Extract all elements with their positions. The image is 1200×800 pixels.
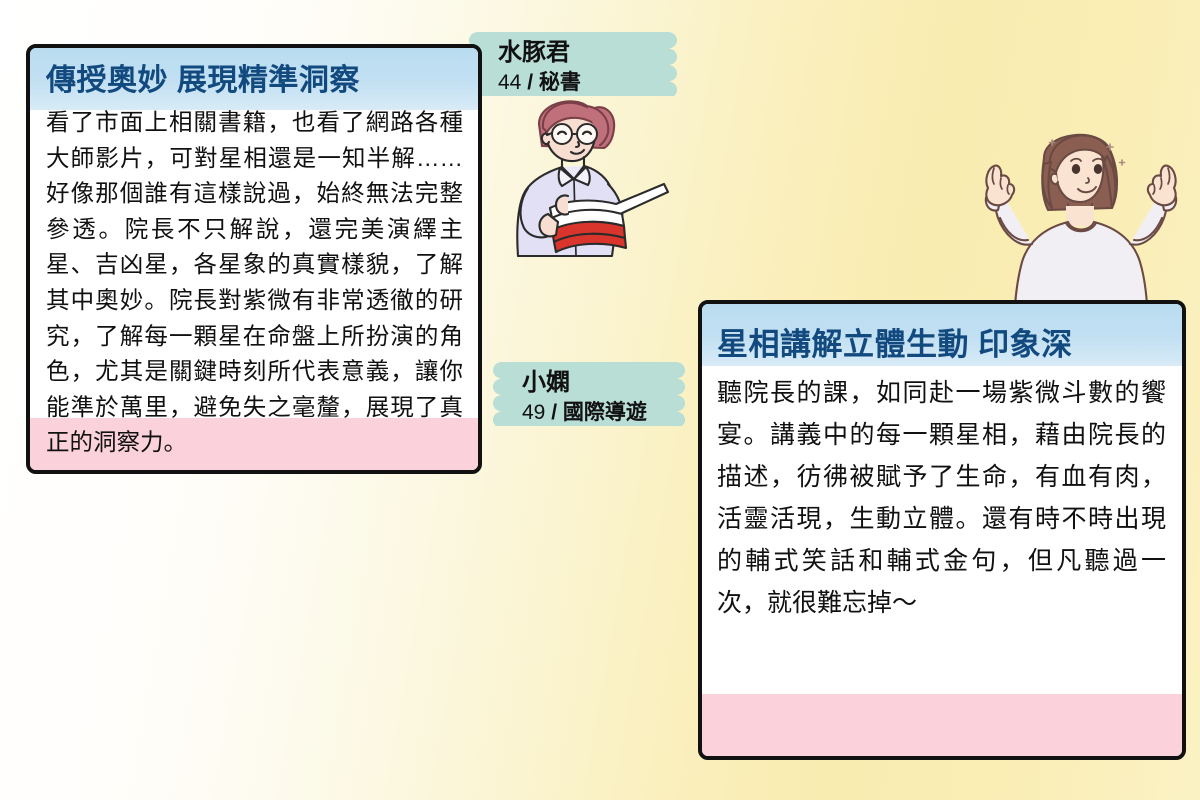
card-title: 星相講解立體生動 印象深	[717, 324, 1166, 366]
card-content: 傳授奧妙 展現精準洞察 看了市面上相關書籍，也看了網路各種大師影片，可對星相還是…	[30, 48, 478, 461]
card-body: 聽院長的課，如同赴一場紫微斗數的饗宴。講義中的每一顆星相，藉由院長的描述，彷彿被…	[717, 372, 1166, 624]
man-reading-book-illustration	[492, 88, 682, 278]
card-body: 看了市面上相關書籍，也看了網路各種大師影片，可對星相還是一知半解……好像那個誰有…	[46, 105, 463, 461]
name-tag-shuitunjun: 水豚君 44 / 秘書	[476, 32, 670, 96]
name-tag-meta: 49 / 國際導遊	[522, 398, 664, 428]
testimonial-card-right: 星相講解立體生動 印象深 聽院長的課，如同赴一場紫微斗數的饗宴。講義中的每一顆星…	[698, 300, 1186, 760]
name-tag-age: 49	[522, 401, 545, 424]
testimonial-card-left: 傳授奧妙 展現精準洞察 看了市面上相關書籍，也看了網路各種大師影片，可對星相還是…	[26, 44, 482, 474]
card-title: 傳授奧妙 展現精準洞察	[46, 61, 463, 101]
card-footer-band	[702, 694, 1182, 756]
name-tag-xiaoxian: 小嫻 49 / 國際導遊	[500, 362, 678, 426]
name-tag-occupation: 國際導遊	[563, 401, 647, 424]
card-content: 星相講解立體生動 印象深 聽院長的課，如同赴一場紫微斗數的饗宴。講義中的每一顆星…	[702, 304, 1182, 624]
name-tag-separator: /	[551, 401, 557, 424]
name-tag-name: 小嫻	[522, 368, 664, 398]
name-tag-name: 水豚君	[498, 38, 656, 68]
